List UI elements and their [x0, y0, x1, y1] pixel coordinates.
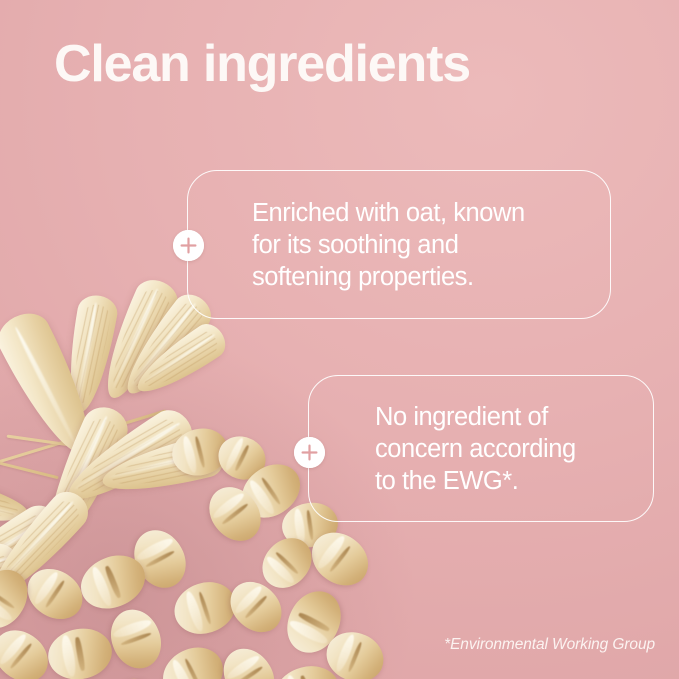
benefit-card-oat[interactable]: Enriched with oat, known for its soothin…: [187, 170, 611, 319]
oat-spikelet: [0, 407, 1, 482]
footnote-ewg-definition: *Environmental Working Group: [444, 636, 655, 654]
plus-icon: [294, 437, 325, 468]
oat-flake: [103, 603, 169, 676]
oat-flake: [44, 624, 116, 679]
oat-flake: [214, 639, 285, 679]
plus-icon: [173, 230, 204, 261]
oat-flake: [154, 638, 232, 679]
benefit-card-ewg-text: No ingredient of concern according to th…: [375, 401, 576, 497]
clean-ingredients-infographic: Clean ingredients Enriched with oat, kno…: [0, 0, 679, 679]
page-title: Clean ingredients: [54, 38, 470, 90]
oat-stem: [0, 450, 59, 480]
benefit-card-oat-text: Enriched with oat, known for its soothin…: [252, 197, 525, 293]
benefit-card-ewg[interactable]: No ingredient of concern according to th…: [308, 375, 654, 522]
